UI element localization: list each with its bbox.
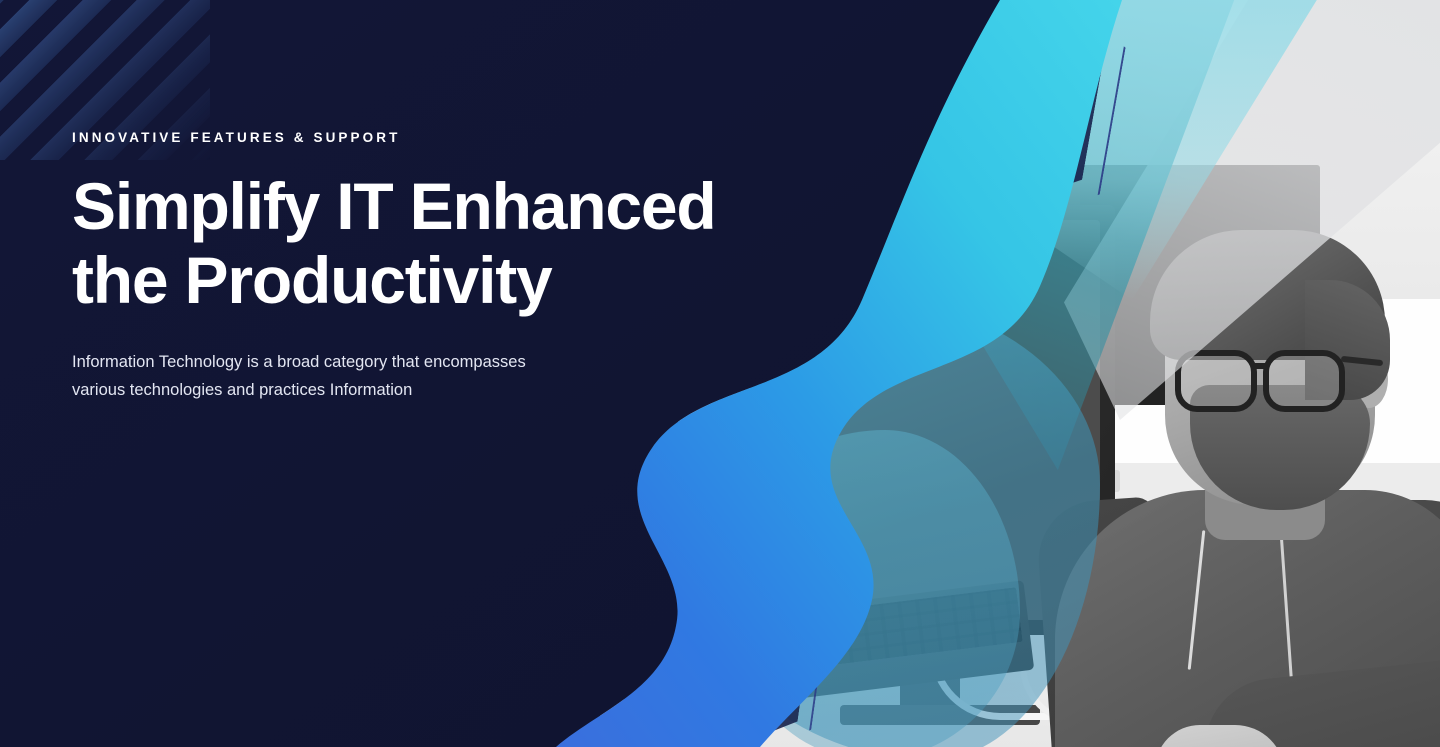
subcopy-line-1: Information Technology is a broad catego… — [72, 348, 642, 376]
headline-line-2: the Productivity — [72, 244, 772, 318]
headline-line-1: Simplify IT Enhanced — [72, 170, 772, 244]
page-title: Simplify IT Enhanced the Productivity — [72, 170, 772, 318]
hero-banner: INNOVATIVE FEATURES & SUPPORT Simplify I… — [0, 0, 1440, 747]
subcopy-line-2: various technologies and practices Infor… — [72, 376, 642, 404]
hero-content: INNOVATIVE FEATURES & SUPPORT Simplify I… — [72, 130, 772, 405]
hero-subcopy: Information Technology is a broad catego… — [72, 348, 642, 405]
eyebrow-label: INNOVATIVE FEATURES & SUPPORT — [72, 130, 772, 146]
